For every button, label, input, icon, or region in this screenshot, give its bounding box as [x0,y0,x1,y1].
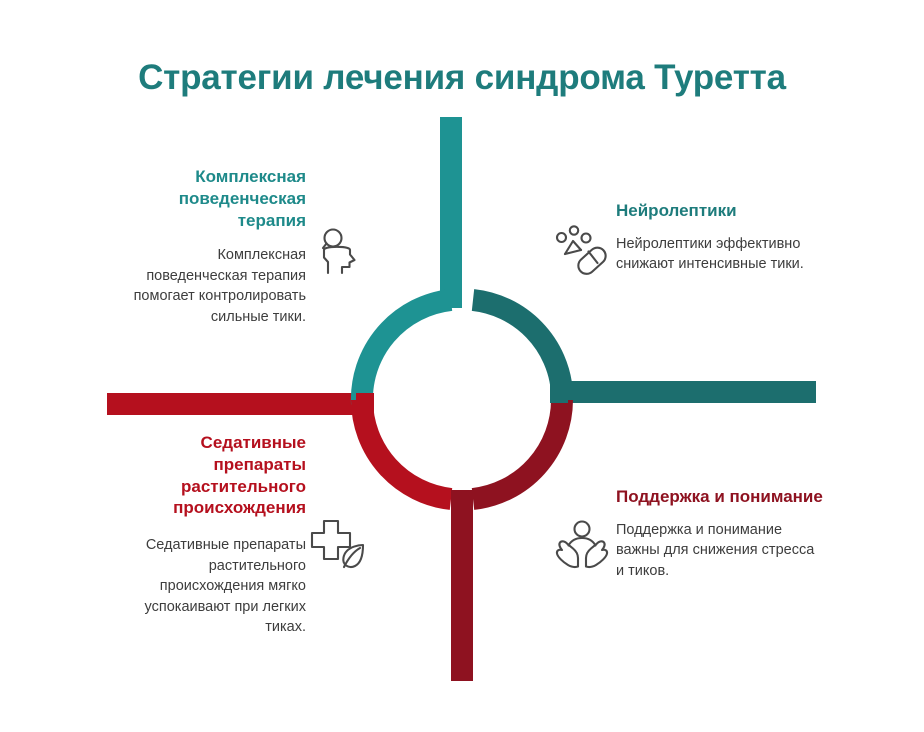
hands-holding-person-icon [554,518,610,579]
block-herbal-body: Седативные препараты растительного проис… [116,535,306,638]
block-cbt-body: Комплексная поведенческая терапия помога… [120,245,306,327]
join-bottom-right [451,490,473,508]
join-right [550,381,568,403]
pills-capsule-icon [552,222,610,285]
block-neuroleptics-title: Нейролептики [616,200,806,222]
block-support-body: Поддержка и понимание важны для снижения… [616,520,826,582]
connector-right-darkteal [556,381,816,403]
block-herbal: Седативные препараты растительного проис… [116,432,306,638]
join-top-left [440,290,462,308]
block-cbt-title: Комплексная поведенческая терапия [120,166,306,231]
block-support: Поддержка и понимание Поддержка и понима… [616,486,826,581]
connector-up-teal [440,117,462,307]
block-herbal-title: Седативные препараты растительного проис… [116,432,306,519]
arc-segment-top-right [473,300,562,392]
arc-segment-bottom-left [362,400,451,499]
connector-left-red [107,393,365,415]
medical-cross-leaf-icon [308,516,372,579]
block-neuroleptics: Нейролептики Нейролептики эффективно сни… [616,200,806,275]
infographic-page: Стратегии лечения синдрома Туретта Компл… [0,0,924,732]
arc-segment-top-left [362,300,451,404]
block-support-title: Поддержка и понимание [616,486,826,508]
head-profile-icon [312,226,366,285]
arc-segment-bottom-right [473,400,562,499]
connector-down-darkred [451,494,473,681]
block-cbt: Комплексная поведенческая терапия Компле… [120,166,306,328]
page-title: Стратегии лечения синдрома Туретта [0,58,924,98]
join-left [356,393,374,415]
block-neuroleptics-body: Нейролептики эффективно снижают интенсив… [616,234,806,275]
